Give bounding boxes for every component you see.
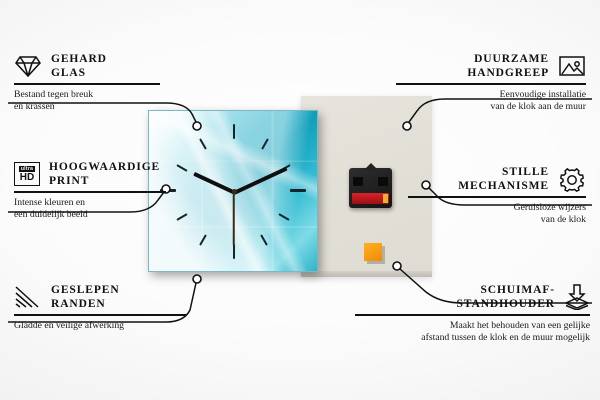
feature-title: HOOGWAARDIGE PRINT [49,160,160,188]
picture-frame-icon [558,54,586,78]
feature-description: Maakt het behouden van een gelijke afsta… [355,320,590,344]
feature-title: SCHUIMAF- STANDHOUDER [456,283,555,311]
infographic-stage: GEHARD GLAS Bestand tegen breuk en krass… [0,0,600,400]
feature-description: Bestand tegen breuk en krassen [14,89,164,113]
feature-schuimafstandhouder: SCHUIMAF- STANDHOUDER Maakt het behouden… [355,283,590,344]
feature-gehard-glas: GEHARD GLAS Bestand tegen breuk en krass… [14,52,164,113]
ultra-hd-icon: ultra HD [14,162,40,186]
feature-description: Eenvoudige installatie van de klok aan d… [396,89,586,113]
feature-divider [14,314,186,316]
feature-divider [408,196,586,198]
feature-title: STILLE MECHANISME [458,165,549,193]
feature-description: Gladde en veilige afwerking [14,320,186,332]
clock-center-pin [232,189,237,194]
clock-tick-12 [233,124,235,139]
feature-divider [355,314,590,316]
feature-head: STILLE MECHANISME [408,165,586,193]
battery-positive-terminal [383,194,388,203]
feature-divider [14,191,166,193]
feature-head: GEHARD GLAS [14,52,164,80]
diamond-icon [14,54,42,78]
feature-geslepen-randen: GESLEPEN RANDEN Gladde en veilige afwerk… [14,283,186,332]
gear-icon [558,166,586,192]
feature-description: Geruisloze wijzers van de klok [408,202,586,226]
stacked-layers-arrow-icon [564,284,590,310]
clock-mechanism [349,168,392,208]
feature-duurzame-handgreep: DUURZAME HANDGREEP Eenvoudige installati… [396,52,586,113]
feature-head: ultra HD HOOGWAARDIGE PRINT [14,160,180,188]
feature-head: SCHUIMAF- STANDHOUDER [355,283,590,311]
feature-description: Intense kleuren en een duidelijk beeld [14,197,180,221]
feature-stille-mechanisme: STILLE MECHANISME Geruisloze wijzers van… [408,165,586,226]
bevelled-edge-icon [14,285,42,309]
ultra-hd-icon-bottom-label: HD [20,172,34,183]
mechanism-battery [352,193,389,204]
feature-head: DUURZAME HANDGREEP [396,52,586,80]
feature-title: DUURZAME HANDGREEP [467,52,549,80]
feature-head: GESLEPEN RANDEN [14,283,186,311]
clock-tick-3 [290,189,306,192]
mechanism-slot-left [353,177,363,186]
foam-spacer-pad [364,243,382,261]
clock-tick-6 [233,244,235,259]
mechanism-slot-right [378,177,388,186]
feature-title: GEHARD GLAS [51,52,107,80]
feature-title: GESLEPEN RANDEN [51,283,120,311]
clock-second-hand [233,192,235,246]
feature-divider [396,83,586,85]
feature-hoogwaardige-print: ultra HD HOOGWAARDIGE PRINT Intense kleu… [14,160,180,221]
feature-divider [14,83,160,85]
wall-panel-edge [301,271,432,277]
